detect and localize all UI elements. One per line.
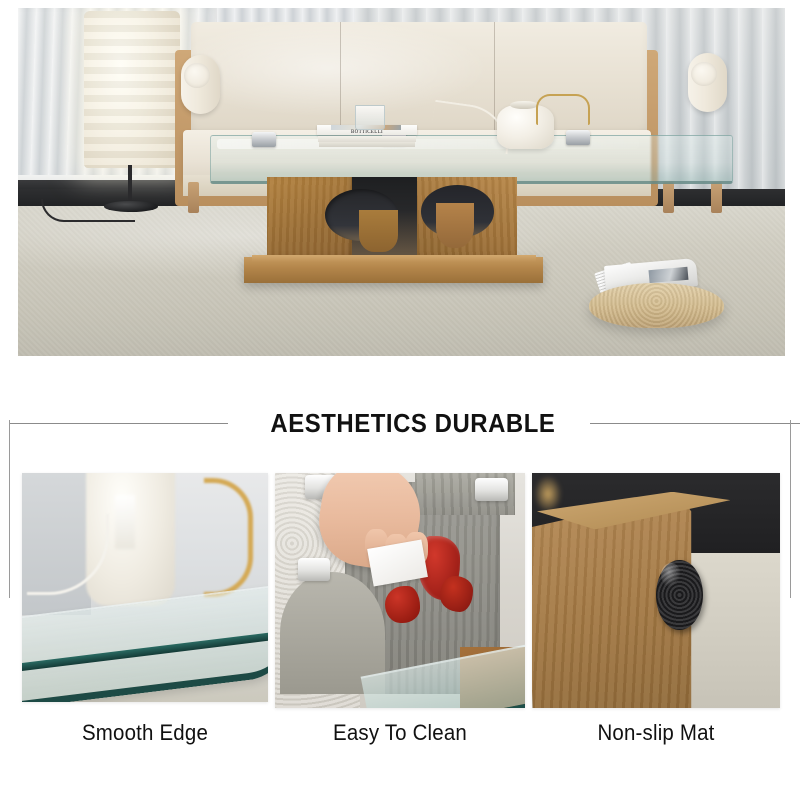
base-hook-right bbox=[436, 203, 474, 248]
panel2-white-cap bbox=[298, 558, 331, 582]
table-base-plinth-top bbox=[252, 255, 536, 262]
watering-can-handle bbox=[536, 94, 590, 126]
features-section: AESTHETICS DURABLE bbox=[0, 380, 800, 800]
title-rule-right bbox=[590, 423, 800, 424]
sofa-leg bbox=[711, 182, 722, 213]
living-room-scene: BOTTICELLI bbox=[18, 8, 785, 356]
base-hook-left bbox=[359, 210, 397, 252]
panel1-gold-handle bbox=[204, 478, 253, 598]
caption-easy-to-clean: Easy To Clean bbox=[284, 720, 517, 746]
chrome-cap bbox=[252, 132, 276, 147]
feature-image-non-slip-mat bbox=[532, 473, 780, 708]
floor-lamp-shade bbox=[84, 11, 180, 168]
panel3-warm-glow bbox=[534, 475, 561, 513]
drinking-glass bbox=[355, 105, 385, 130]
panel2-red-sauce-stain bbox=[385, 586, 420, 624]
lamp-power-cord bbox=[41, 199, 135, 222]
sofa-leg bbox=[188, 182, 199, 213]
panel2-red-sauce-stain bbox=[440, 576, 473, 611]
title-rule-left bbox=[9, 423, 228, 424]
chrome-cap bbox=[566, 130, 590, 145]
feature-captions: Smooth Edge Easy To Clean Non-slip Mat bbox=[0, 720, 800, 770]
sofa-cushion-seam bbox=[340, 22, 341, 137]
caption-non-slip-mat: Non-slip Mat bbox=[541, 720, 772, 746]
feature-panels bbox=[0, 473, 800, 713]
watering-can-lid bbox=[510, 101, 538, 109]
book-title-text: BOTTICELLI bbox=[317, 130, 417, 135]
section-title: AESTHETICS DURABLE bbox=[270, 408, 555, 439]
bolster-pillow-left bbox=[181, 55, 221, 114]
book-middle bbox=[318, 136, 416, 142]
feature-image-smooth-edge bbox=[22, 473, 268, 702]
woven-pouf-ottoman bbox=[589, 283, 723, 328]
product-detail-page: BOTTICELLI bbox=[0, 0, 800, 800]
feature-image-easy-to-clean bbox=[275, 473, 525, 708]
caption-smooth-edge: Smooth Edge bbox=[31, 720, 260, 746]
book-bottom bbox=[319, 142, 415, 147]
hero-product-image: BOTTICELLI bbox=[18, 8, 785, 356]
sofa-leg bbox=[663, 182, 674, 213]
bolster-pillow-right bbox=[688, 53, 728, 112]
panel3-pad-highlight bbox=[661, 563, 681, 587]
panel2-white-cap bbox=[475, 478, 508, 502]
section-title-row: AESTHETICS DURABLE bbox=[0, 408, 800, 438]
panel1-can-inner bbox=[115, 495, 134, 549]
